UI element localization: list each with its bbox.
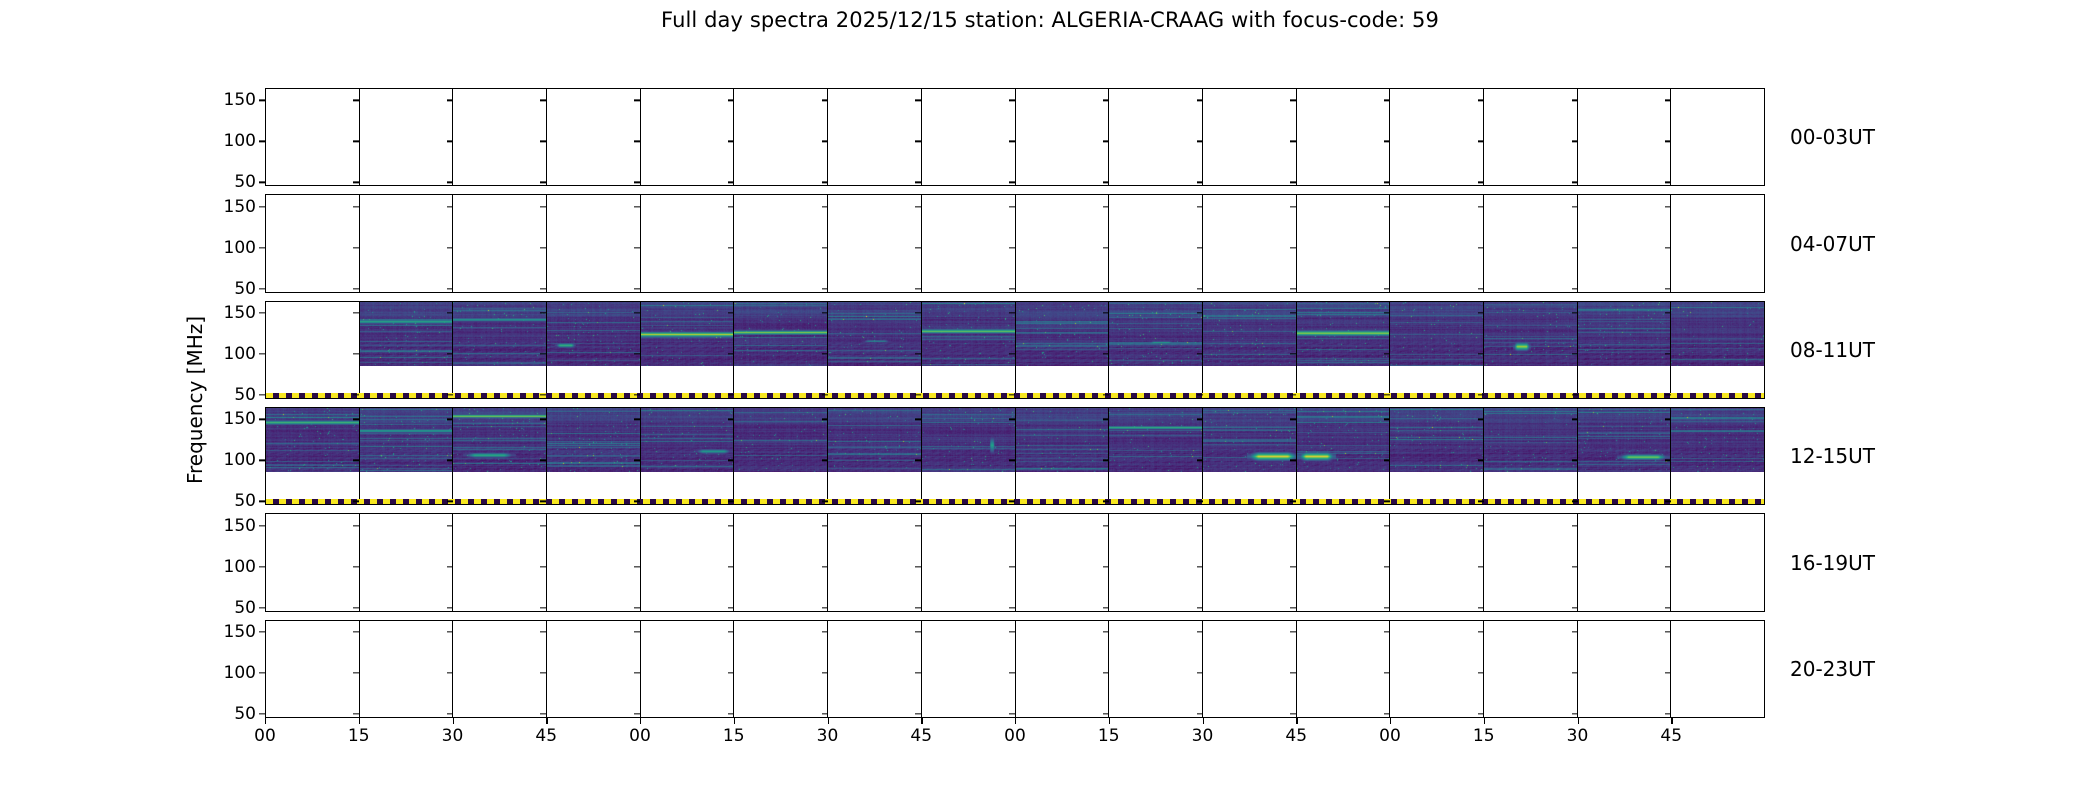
y-tick-mark-inner	[1009, 672, 1015, 673]
spectrogram-cell-empty	[1484, 89, 1578, 185]
spectrogram-cell-empty	[1016, 621, 1110, 717]
spectrogram-image	[734, 408, 828, 472]
x-tick-mark	[734, 718, 735, 724]
y-tick-mark-inner	[447, 419, 453, 420]
spectrogram-cell-empty	[1578, 195, 1672, 291]
y-tick-mark	[259, 141, 265, 142]
y-tick-mark	[259, 501, 265, 502]
y-tick-mark-inner	[1009, 525, 1015, 526]
y-tick-mark-inner	[822, 353, 828, 354]
y-tick-mark-inner	[634, 566, 640, 567]
x-tick-label: 00	[629, 726, 651, 746]
row-cells	[266, 89, 1764, 185]
spectrogram-cell-empty	[547, 514, 641, 610]
spectrogram-image	[828, 302, 922, 366]
y-tick-mark-inner	[1197, 141, 1203, 142]
spectrogram-cell-empty	[266, 302, 360, 398]
y-tick-mark-inner	[1572, 566, 1578, 567]
y-tick-mark-inner	[822, 182, 828, 183]
y-tick-mark-inner	[1478, 353, 1484, 354]
y-tick-mark-inner	[1665, 672, 1671, 673]
spectrogram-cell-empty	[1484, 195, 1578, 291]
y-tick-mark-inner	[1197, 501, 1203, 502]
spectrogram-image	[641, 408, 735, 472]
y-tick-mark-inner	[447, 100, 453, 101]
y-tick-mark-inner	[1290, 353, 1296, 354]
y-tick-mark-inner	[1665, 460, 1671, 461]
spectrogram-image	[1484, 302, 1578, 366]
spectrogram-cell	[547, 408, 641, 504]
y-tick-mark-inner	[540, 631, 546, 632]
y-tick-mark-inner	[1009, 141, 1015, 142]
spectrogram-cell	[453, 302, 547, 398]
y-tick-mark-inner	[1103, 566, 1109, 567]
y-tick-mark-inner	[634, 631, 640, 632]
spectrogram-cell-empty	[266, 621, 360, 717]
spectrogram-image	[828, 408, 922, 472]
spectrogram-cell-empty	[734, 195, 828, 291]
spectrogram-image	[453, 408, 547, 472]
y-tick-mark-inner	[1572, 460, 1578, 461]
spectrogram-cell	[1578, 408, 1672, 504]
x-tick-mark	[1015, 718, 1016, 724]
y-tick-mark-inner	[634, 394, 640, 395]
y-tick-mark-inner	[915, 182, 921, 183]
row-axes-6	[265, 620, 1765, 718]
y-tick-mark-inner	[728, 247, 734, 248]
y-tick-mark-inner	[1009, 713, 1015, 714]
y-tick-mark-inner	[540, 419, 546, 420]
y-tick-mark	[259, 247, 265, 248]
y-tick-mark-inner	[634, 141, 640, 142]
y-tick-mark	[259, 206, 265, 207]
row-time-label: 16-19UT	[1790, 551, 1875, 575]
spectrogram-cell-empty	[1016, 514, 1110, 610]
y-tick-mark-inner	[822, 713, 828, 714]
y-tick-mark	[259, 100, 265, 101]
y-tick-mark-inner	[728, 631, 734, 632]
y-tick-mark-inner	[353, 206, 359, 207]
y-tick-mark-inner	[1384, 206, 1390, 207]
y-tick-mark-inner	[1103, 100, 1109, 101]
y-tick-mark-inner	[1103, 460, 1109, 461]
y-tick-mark-inner	[447, 672, 453, 673]
y-tick-mark-inner	[1478, 566, 1484, 567]
spectrogram-image	[734, 302, 828, 366]
spectrogram-cell-empty	[1671, 89, 1764, 185]
y-tick-mark-inner	[353, 312, 359, 313]
y-tick-mark-inner	[1478, 607, 1484, 608]
spectrogram-image	[641, 302, 735, 366]
spectrogram-cell	[1203, 302, 1297, 398]
x-tick-label: 30	[817, 726, 839, 746]
spectrogram-image	[1578, 408, 1672, 472]
y-tick-mark-inner	[1290, 141, 1296, 142]
spectrogram-cell-empty	[547, 621, 641, 717]
y-tick-mark-inner	[1665, 312, 1671, 313]
y-tick-label: 50	[186, 704, 265, 724]
y-tick-mark-inner	[1665, 607, 1671, 608]
y-tick-mark-inner	[1009, 182, 1015, 183]
y-tick-mark-inner	[728, 501, 734, 502]
y-tick-label: 50	[186, 598, 265, 618]
y-tick-mark-inner	[1103, 182, 1109, 183]
y-tick-mark-inner	[447, 525, 453, 526]
y-tick-mark-inner	[447, 312, 453, 313]
y-tick-label: 50	[186, 279, 265, 299]
y-tick-mark	[259, 353, 265, 354]
y-tick-mark-inner	[1290, 206, 1296, 207]
y-tick-mark-inner	[728, 182, 734, 183]
y-tick-label: 100	[186, 450, 265, 470]
x-tick-mark	[1578, 718, 1579, 724]
y-tick-mark-inner	[1384, 247, 1390, 248]
y-tick-mark-inner	[1103, 206, 1109, 207]
spectrogram-row: 50100150	[265, 407, 1765, 505]
y-tick-mark-inner	[1665, 394, 1671, 395]
y-tick-label: 50	[186, 491, 265, 511]
x-tick-mark	[1109, 718, 1110, 724]
spectrogram-cell-empty	[1578, 621, 1672, 717]
y-tick-label: 150	[186, 197, 265, 217]
y-tick-mark-inner	[1103, 419, 1109, 420]
spectrogram-image	[1109, 302, 1203, 366]
spectrogram-cell-empty	[1390, 195, 1484, 291]
spectrogram-cell	[1016, 302, 1110, 398]
y-tick-mark	[259, 672, 265, 673]
spectrogram-cell-empty	[734, 621, 828, 717]
spectrogram-cell-empty	[641, 89, 735, 185]
y-tick-mark-inner	[1290, 182, 1296, 183]
y-tick-mark-inner	[1478, 141, 1484, 142]
x-tick-label: 30	[1192, 726, 1214, 746]
y-tick-mark-inner	[728, 206, 734, 207]
spectrogram-image	[1203, 302, 1297, 366]
spectrogram-cell-empty	[453, 514, 547, 610]
y-tick-mark-inner	[353, 566, 359, 567]
y-tick-mark-inner	[1384, 713, 1390, 714]
y-tick-label: 150	[186, 90, 265, 110]
y-tick-mark-inner	[353, 419, 359, 420]
figure-title: Full day spectra 2025/12/15 station: ALG…	[0, 8, 2100, 32]
y-tick-mark-inner	[447, 394, 453, 395]
y-tick-mark-inner	[1572, 631, 1578, 632]
y-tick-mark-inner	[915, 713, 921, 714]
y-tick-mark-inner	[1478, 631, 1484, 632]
y-tick-mark-inner	[1009, 419, 1015, 420]
x-tick-label: 15	[1473, 726, 1495, 746]
x-tick-mark	[453, 718, 454, 724]
y-tick-mark-inner	[1103, 501, 1109, 502]
event-marker-line	[266, 499, 1764, 504]
y-tick-mark-inner	[1478, 525, 1484, 526]
y-tick-mark-inner	[447, 288, 453, 289]
y-tick-mark-inner	[634, 353, 640, 354]
y-tick-mark-inner	[822, 247, 828, 248]
y-tick-mark-inner	[1478, 100, 1484, 101]
y-tick-mark-inner	[447, 353, 453, 354]
y-tick-mark-inner	[1384, 394, 1390, 395]
y-tick-mark-inner	[822, 525, 828, 526]
row-axes-4	[265, 407, 1765, 505]
y-tick-mark-inner	[353, 288, 359, 289]
spectrogram-cell	[1297, 302, 1391, 398]
y-tick-mark-inner	[353, 247, 359, 248]
x-tick-label: 45	[1285, 726, 1307, 746]
y-tick-mark-inner	[540, 141, 546, 142]
x-tick-label: 30	[1567, 726, 1589, 746]
spectrogram-cell	[1203, 408, 1297, 504]
spectrogram-image	[1484, 408, 1578, 472]
y-tick-mark-inner	[447, 247, 453, 248]
y-tick-mark-inner	[447, 182, 453, 183]
y-tick-mark-inner	[1384, 182, 1390, 183]
y-tick-mark-inner	[1572, 525, 1578, 526]
y-tick-mark-inner	[915, 141, 921, 142]
y-tick-mark-inner	[1290, 288, 1296, 289]
spectrogram-cell	[1484, 408, 1578, 504]
spectrogram-row: 50100150	[265, 513, 1765, 611]
y-tick-mark-inner	[540, 525, 546, 526]
y-tick-mark-inner	[1572, 206, 1578, 207]
row-time-label: 04-07UT	[1790, 232, 1875, 256]
y-tick-mark	[259, 713, 265, 714]
y-tick-mark-inner	[1478, 460, 1484, 461]
y-tick-mark-inner	[1384, 141, 1390, 142]
spectrogram-cell-empty	[1390, 89, 1484, 185]
y-tick-mark-inner	[1290, 713, 1296, 714]
y-tick-mark-inner	[540, 100, 546, 101]
spectrogram-cell	[734, 302, 828, 398]
y-tick-label: 150	[186, 409, 265, 429]
y-tick-mark-inner	[540, 501, 546, 502]
spectrogram-cell	[1109, 408, 1203, 504]
spectrogram-cell	[922, 302, 1016, 398]
spectrogram-cell-empty	[922, 514, 1016, 610]
row-axes-2	[265, 194, 1765, 292]
y-tick-mark-inner	[1009, 607, 1015, 608]
y-tick-mark-inner	[1384, 419, 1390, 420]
spectrogram-cell-empty	[734, 514, 828, 610]
spectrogram-cell-empty	[266, 89, 360, 185]
y-tick-mark-inner	[1103, 672, 1109, 673]
y-tick-mark-inner	[634, 100, 640, 101]
y-tick-mark-inner	[1103, 247, 1109, 248]
y-tick-mark-inner	[1197, 631, 1203, 632]
spectrogram-cell-empty	[453, 621, 547, 717]
x-tick-mark	[640, 718, 641, 724]
y-tick-label: 150	[186, 622, 265, 642]
y-tick-mark-inner	[1197, 713, 1203, 714]
y-tick-mark-inner	[1103, 353, 1109, 354]
y-tick-mark-inner	[915, 631, 921, 632]
y-tick-mark-inner	[1290, 607, 1296, 608]
y-tick-mark-inner	[1665, 631, 1671, 632]
y-tick-mark	[259, 288, 265, 289]
y-tick-mark-inner	[1572, 312, 1578, 313]
y-tick-mark-inner	[1572, 713, 1578, 714]
spectrogram-cell-empty	[1203, 621, 1297, 717]
spectrogram-cell	[922, 408, 1016, 504]
y-tick-mark-inner	[728, 566, 734, 567]
spectrogram-cell-empty	[1297, 89, 1391, 185]
y-tick-mark-inner	[1290, 672, 1296, 673]
y-tick-mark-inner	[353, 525, 359, 526]
y-tick-mark-inner	[1478, 206, 1484, 207]
spectrogram-image	[360, 408, 454, 472]
y-tick-mark-inner	[353, 182, 359, 183]
y-tick-mark-inner	[822, 206, 828, 207]
y-tick-label: 100	[186, 131, 265, 151]
y-tick-mark-inner	[1009, 460, 1015, 461]
y-tick-mark-inner	[1103, 288, 1109, 289]
x-tick-mark	[828, 718, 829, 724]
y-tick-mark-inner	[447, 566, 453, 567]
y-tick-mark-inner	[634, 525, 640, 526]
y-tick-mark-inner	[353, 713, 359, 714]
y-tick-mark-inner	[1572, 247, 1578, 248]
y-tick-mark-inner	[1197, 100, 1203, 101]
x-tick-label: 30	[442, 726, 464, 746]
spectrogram-cell-empty	[1109, 195, 1203, 291]
y-tick-mark-inner	[1384, 100, 1390, 101]
spectrogram-image	[547, 302, 641, 366]
y-tick-mark-inner	[1009, 288, 1015, 289]
spectrogram-image	[360, 302, 454, 366]
y-tick-mark-inner	[1197, 312, 1203, 313]
spectrogram-cell	[641, 408, 735, 504]
spectrogram-row: 50100150	[265, 301, 1765, 399]
spectrogram-cell	[1390, 302, 1484, 398]
row-cells	[266, 195, 1764, 291]
y-tick-mark-inner	[822, 100, 828, 101]
x-tick-mark	[1203, 718, 1204, 724]
y-tick-mark-inner	[1384, 525, 1390, 526]
spectrogram-cell-empty	[828, 621, 922, 717]
y-tick-mark-inner	[822, 460, 828, 461]
y-tick-mark-inner	[728, 460, 734, 461]
y-tick-mark-inner	[540, 288, 546, 289]
y-tick-mark-inner	[1665, 525, 1671, 526]
spectrogram-cell-empty	[1578, 514, 1672, 610]
y-tick-mark-inner	[1103, 713, 1109, 714]
y-tick-mark-inner	[1197, 288, 1203, 289]
y-tick-mark-inner	[1009, 247, 1015, 248]
y-tick-mark-inner	[1665, 206, 1671, 207]
spectrogram-cell	[1390, 408, 1484, 504]
y-tick-label: 100	[186, 663, 265, 683]
y-tick-mark-inner	[447, 460, 453, 461]
y-tick-mark-inner	[634, 312, 640, 313]
y-tick-mark	[259, 566, 265, 567]
row-time-label: 00-03UT	[1790, 125, 1875, 149]
spectrogram-cell	[1671, 302, 1764, 398]
y-tick-mark-inner	[447, 141, 453, 142]
y-tick-mark-inner	[822, 672, 828, 673]
y-tick-mark-inner	[822, 566, 828, 567]
spectrogram-cell	[360, 302, 454, 398]
spectrogram-image	[1390, 408, 1484, 472]
row-cells	[266, 514, 1764, 610]
spectrogram-cell-empty	[547, 195, 641, 291]
y-tick-mark-inner	[1478, 288, 1484, 289]
y-tick-mark-inner	[1572, 353, 1578, 354]
spectrogram-cell	[360, 408, 454, 504]
x-tick-mark	[265, 718, 266, 724]
y-tick-mark-inner	[353, 100, 359, 101]
y-tick-mark-inner	[1290, 631, 1296, 632]
y-tick-mark-inner	[728, 607, 734, 608]
x-tick-label: 00	[1004, 726, 1026, 746]
y-tick-mark	[259, 631, 265, 632]
y-tick-mark-inner	[634, 713, 640, 714]
y-tick-mark-inner	[353, 353, 359, 354]
spectrogram-cell	[266, 408, 360, 504]
y-tick-mark-inner	[915, 672, 921, 673]
spectrogram-cell	[828, 302, 922, 398]
spectrogram-cell-empty	[1016, 89, 1110, 185]
y-tick-mark-inner	[1197, 353, 1203, 354]
spectrogram-image	[1297, 408, 1391, 472]
y-tick-mark-inner	[1197, 394, 1203, 395]
y-tick-mark	[259, 182, 265, 183]
y-tick-mark-inner	[540, 460, 546, 461]
y-tick-mark-inner	[822, 394, 828, 395]
spectrogram-cell-empty	[828, 89, 922, 185]
y-tick-mark	[259, 607, 265, 608]
spectrogram-cell	[1484, 302, 1578, 398]
y-tick-mark	[259, 419, 265, 420]
y-tick-mark-inner	[915, 100, 921, 101]
y-tick-mark-inner	[822, 288, 828, 289]
y-tick-mark-inner	[1665, 141, 1671, 142]
spectrogram-cell-empty	[1297, 621, 1391, 717]
y-tick-label: 50	[186, 172, 265, 192]
y-tick-mark-inner	[447, 206, 453, 207]
spectrogram-cell-empty	[547, 89, 641, 185]
y-tick-mark-inner	[822, 419, 828, 420]
y-tick-mark-inner	[1665, 182, 1671, 183]
y-tick-mark-inner	[540, 182, 546, 183]
y-tick-mark-inner	[1009, 501, 1015, 502]
y-tick-mark-inner	[634, 206, 640, 207]
y-tick-mark	[259, 525, 265, 526]
spectrogram-cell	[1297, 408, 1391, 504]
y-tick-mark-inner	[1009, 394, 1015, 395]
y-tick-mark-inner	[1197, 419, 1203, 420]
y-tick-mark-inner	[1572, 501, 1578, 502]
y-tick-label: 100	[186, 557, 265, 577]
y-tick-mark-inner	[1478, 713, 1484, 714]
x-tick-label: 45	[910, 726, 932, 746]
spectrogram-cell	[453, 408, 547, 504]
y-tick-label: 150	[186, 303, 265, 323]
y-tick-mark-inner	[1572, 394, 1578, 395]
y-tick-mark-inner	[447, 713, 453, 714]
y-tick-mark-inner	[1665, 100, 1671, 101]
x-tick-label: 15	[348, 726, 370, 746]
y-tick-mark-inner	[1572, 672, 1578, 673]
x-tick-label: 15	[723, 726, 745, 746]
y-tick-mark-inner	[540, 247, 546, 248]
y-tick-label: 100	[186, 238, 265, 258]
y-tick-mark-inner	[353, 141, 359, 142]
y-tick-mark-inner	[1665, 353, 1671, 354]
spectrogram-image	[547, 408, 641, 472]
spectrogram-cell-empty	[453, 195, 547, 291]
y-tick-mark-inner	[1572, 182, 1578, 183]
spectrogram-image	[1390, 302, 1484, 366]
